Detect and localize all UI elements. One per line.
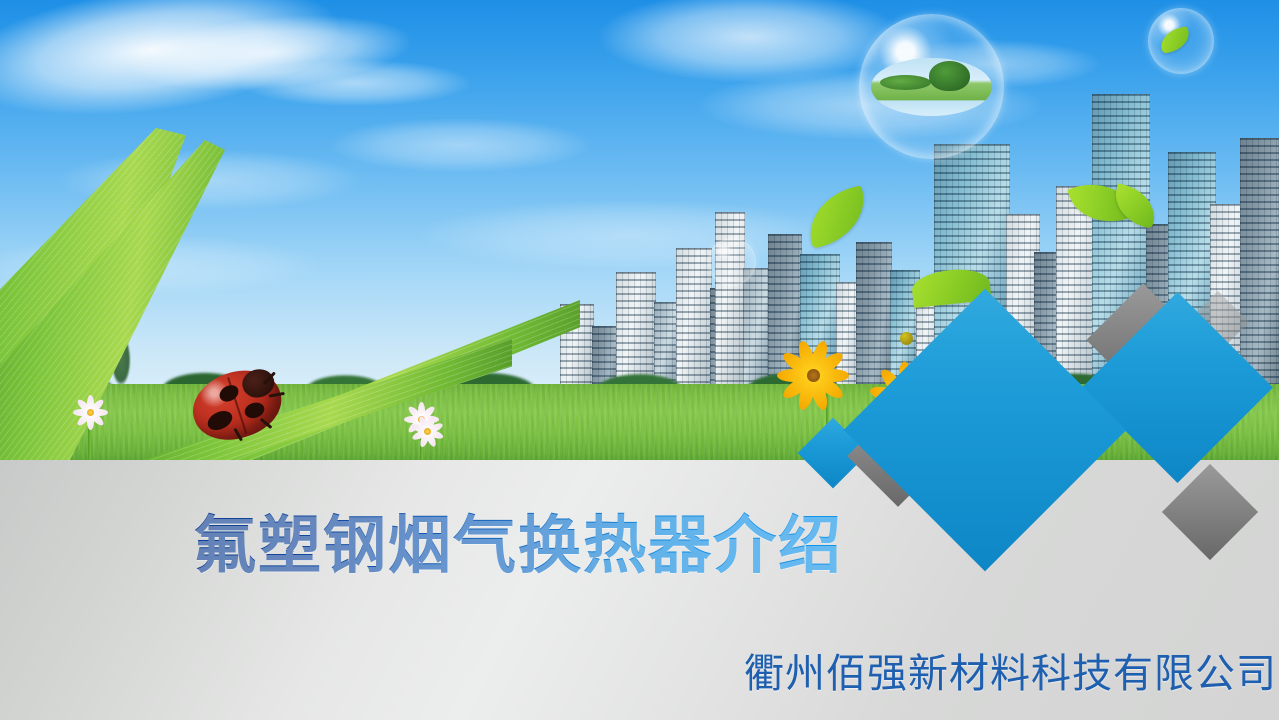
daisy-flower-icon bbox=[70, 392, 110, 432]
bubble-with-tree-icon bbox=[859, 14, 1004, 159]
daisy-flower-icon bbox=[410, 414, 444, 448]
bubble-bush bbox=[880, 75, 931, 90]
sunflower-icon bbox=[912, 374, 986, 448]
ladybug-spot bbox=[216, 382, 241, 405]
presentation-slide: 氟塑钢烟气换热器介绍 衢州佰强新材料科技有限公司 bbox=[0, 0, 1279, 720]
flower-bud bbox=[900, 332, 913, 345]
bubble-tree bbox=[929, 61, 970, 91]
slide-subtitle-company: 衢州佰强新材料科技有限公司 bbox=[744, 641, 1277, 699]
ladybug-spot bbox=[243, 400, 267, 420]
bubble-with-leaf-icon bbox=[1148, 8, 1214, 74]
hero-photo-band bbox=[0, 0, 1279, 462]
slide-title: 氟塑钢烟气换热器介绍 bbox=[193, 512, 843, 580]
bubble-scene bbox=[871, 58, 993, 116]
sunflower-icon bbox=[770, 332, 856, 418]
leaf-icon bbox=[1158, 26, 1192, 54]
bubble-icon bbox=[708, 238, 756, 286]
ladybug-spot bbox=[204, 408, 235, 435]
